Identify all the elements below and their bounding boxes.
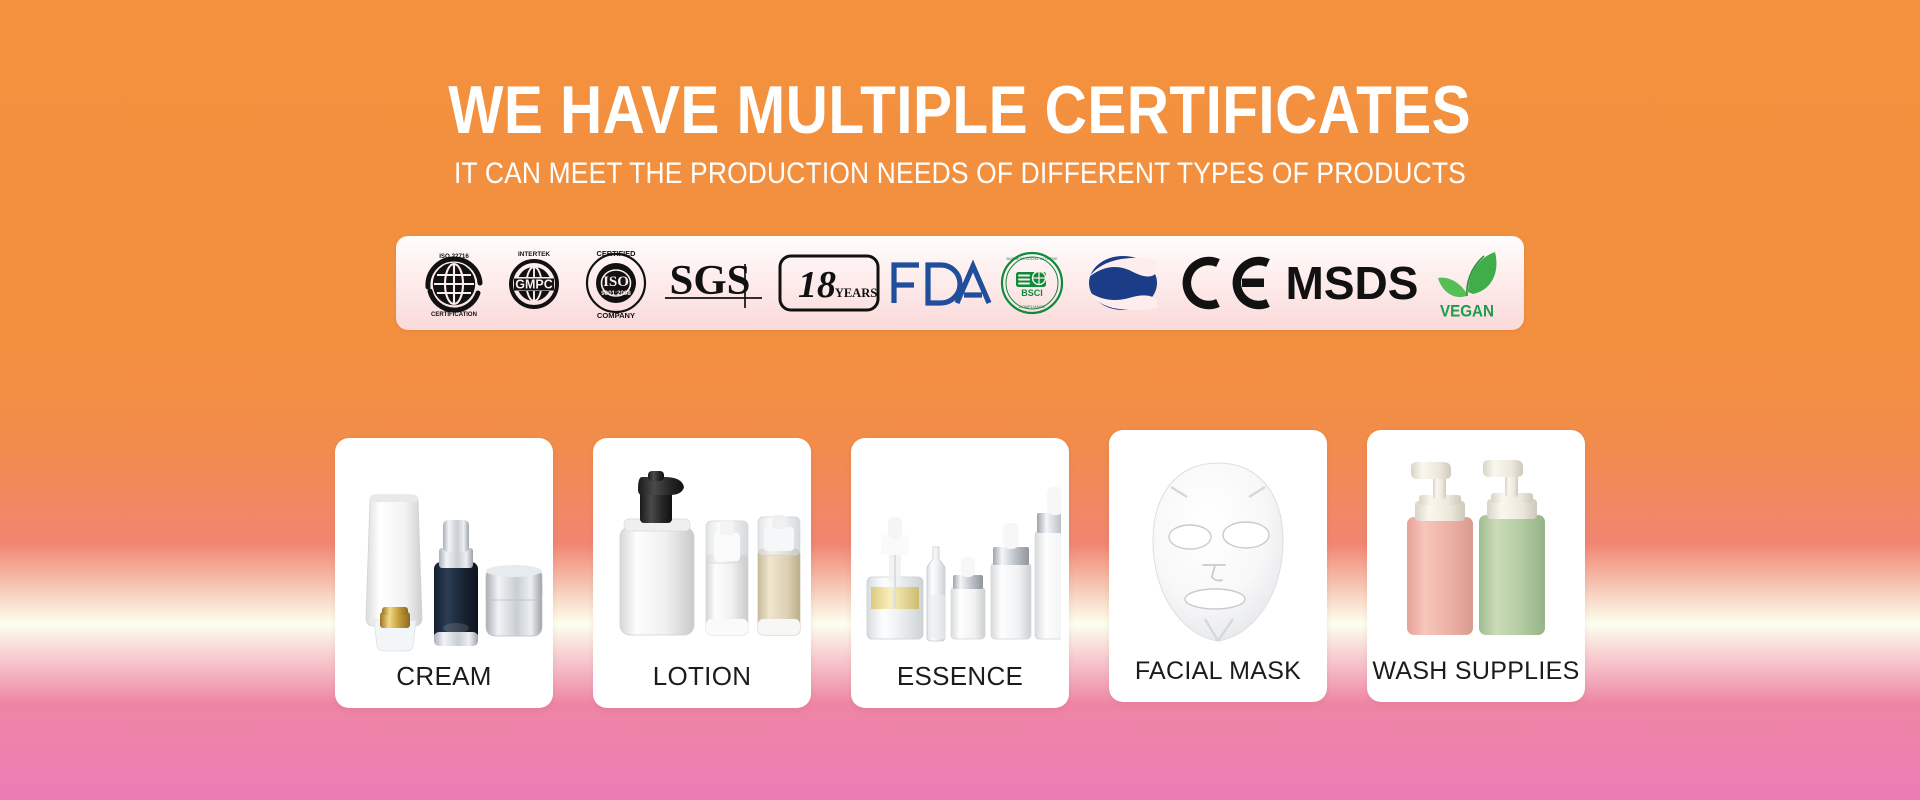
svg-text:ISO 22716: ISO 22716 <box>439 253 469 260</box>
svg-text:9001:2008: 9001:2008 <box>601 290 631 297</box>
certificate-iso-22716: ISO 22716 CERTIFICATION <box>418 247 490 319</box>
svg-text:INTERTEK: INTERTEK <box>518 251 550 258</box>
ce-mark-icon <box>1180 253 1272 313</box>
page-title: WE HAVE MULTIPLE CERTIFICATES <box>449 78 1472 143</box>
fda-wordmark-icon <box>887 255 993 311</box>
msds-wordmark-icon: MSDS <box>1278 255 1426 311</box>
cream-products-image <box>335 438 553 661</box>
product-label-essence: ESSENCE <box>897 661 1023 708</box>
facial-mask-image <box>1109 430 1327 657</box>
svg-text:YEARS: YEARS <box>835 286 877 300</box>
product-card-essence[interactable]: ESSENCE <box>851 438 1069 708</box>
product-label-wash-supplies: WASH SUPPLIES <box>1372 657 1579 702</box>
iso-9001-seal-icon: ISO 9001:2008 CERTIFIED COMPANY <box>578 245 654 321</box>
svg-text:GMPC: GMPC <box>515 277 553 291</box>
page-subtitle: IT CAN MEET THE PRODUCTION NEEDS OF DIFF… <box>454 157 1466 191</box>
eighteen-years-badge-icon: 18 YEARS <box>777 253 881 313</box>
certificate-gmpc: GMPC INTERTEK <box>496 247 572 319</box>
cnas-wordmark-icon: CNAS <box>1071 252 1175 314</box>
certificate-iso-9001: ISO 9001:2008 CERTIFIED COMPANY <box>578 245 654 321</box>
certificate-18-years: 18 YEARS <box>777 253 881 313</box>
svg-text:BSCI: BSCI <box>1021 288 1043 298</box>
product-card-list: CREAM <box>335 438 1585 708</box>
svg-text:CERTIFIED: CERTIFIED <box>596 249 636 258</box>
product-card-wash-supplies[interactable]: WASH SUPPLIES <box>1367 430 1585 702</box>
product-card-cream[interactable]: CREAM <box>335 438 553 708</box>
intertek-gmpc-globe-icon: GMPC INTERTEK <box>496 247 572 319</box>
product-card-lotion[interactable]: LOTION <box>593 438 811 708</box>
svg-text:ISO: ISO <box>603 274 629 290</box>
svg-text:CNAS: CNAS <box>1094 272 1151 297</box>
lotion-products-image <box>593 438 811 661</box>
svg-text:MSDS: MSDS <box>1286 257 1419 309</box>
certificate-bsci: BSCI COMPLIANCE BUSINESS SOCIAL INITIATI… <box>999 250 1065 316</box>
bsci-seal-icon: BSCI COMPLIANCE BUSINESS SOCIAL INITIATI… <box>999 250 1065 316</box>
wash-supplies-image <box>1367 430 1585 657</box>
svg-text:SGS: SGS <box>670 257 751 304</box>
svg-text:BUSINESS SOCIAL INITIATIVE: BUSINESS SOCIAL INITIATIVE <box>1006 257 1058 261</box>
essence-products-image <box>851 438 1069 661</box>
svg-text:COMPLIANCE: COMPLIANCE <box>1019 304 1046 309</box>
product-card-facial-mask[interactable]: FACIAL MASK <box>1109 430 1327 702</box>
product-label-facial-mask: FACIAL MASK <box>1135 657 1301 702</box>
certificate-cnas: CNAS <box>1071 252 1175 314</box>
sgs-wordmark-icon: SGS <box>659 250 771 316</box>
certificate-ce <box>1180 253 1272 313</box>
svg-text:VEGAN: VEGAN <box>1440 302 1494 319</box>
certificate-strip: ISO 22716 CERTIFICATION G <box>396 236 1524 330</box>
certificate-sgs: SGS <box>659 250 771 316</box>
vegan-leaf-icon: VEGAN <box>1432 246 1502 320</box>
product-label-cream: CREAM <box>396 661 491 708</box>
iso-22716-globe-icon: ISO 22716 CERTIFICATION <box>418 247 490 319</box>
certificate-vegan: VEGAN <box>1432 246 1502 320</box>
certificate-fda <box>887 255 993 311</box>
svg-text:18: 18 <box>798 264 836 306</box>
certificates-banner: WE HAVE MULTIPLE CERTIFICATES IT CAN MEE… <box>0 0 1920 800</box>
certificate-msds: MSDS <box>1278 255 1426 311</box>
svg-text:CERTIFICATION: CERTIFICATION <box>431 312 477 318</box>
product-label-lotion: LOTION <box>653 661 752 708</box>
svg-text:COMPANY: COMPANY <box>596 311 634 320</box>
